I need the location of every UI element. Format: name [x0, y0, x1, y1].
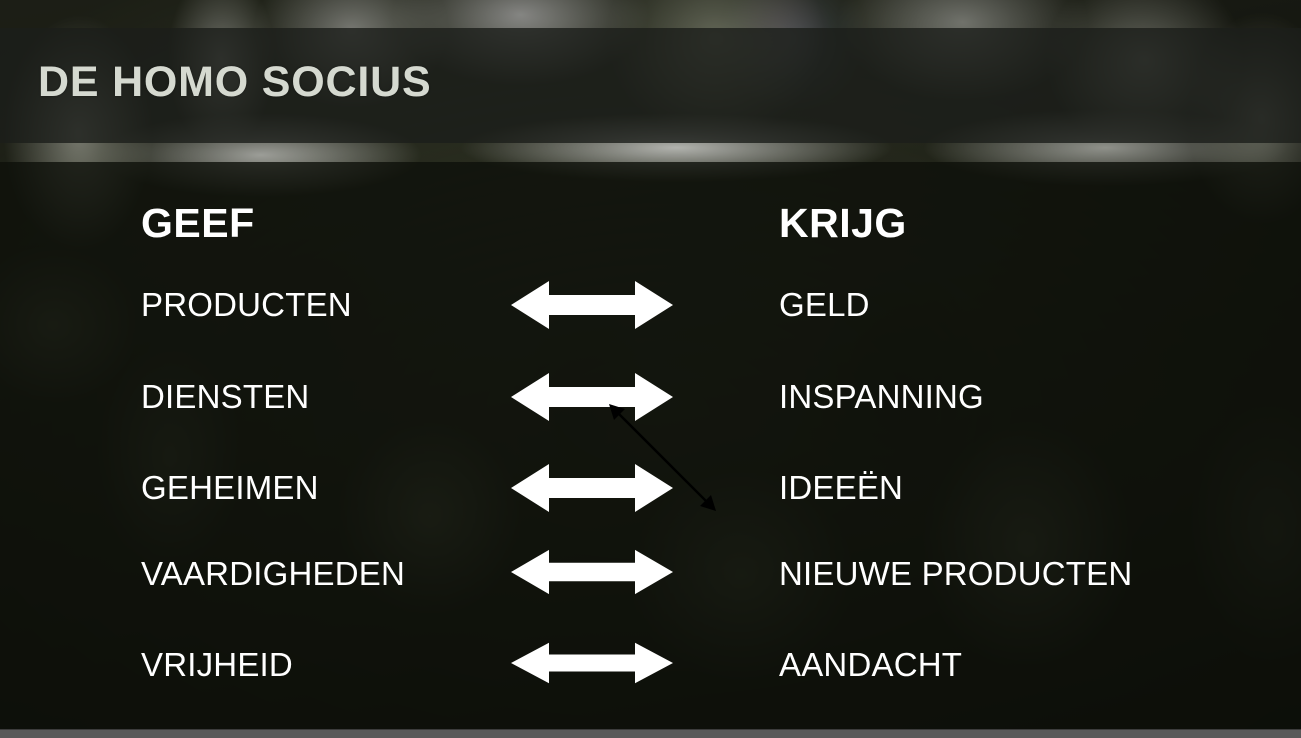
double-arrow-icon-5: [511, 641, 673, 685]
presentation-slide: DE HOMO SOCIUS GEEF KRIJG PRODUCTEN GELD…: [0, 0, 1301, 738]
give-item-1: PRODUCTEN: [141, 286, 352, 324]
get-item-5: AANDACHT: [779, 646, 962, 684]
get-item-1: GELD: [779, 286, 870, 324]
double-arrow-icon-1: [511, 279, 673, 331]
give-item-4: VAARDIGHEDEN: [141, 555, 405, 593]
bottom-chrome-bar: [0, 729, 1301, 738]
column-heading-get: KRIJG: [779, 200, 907, 247]
get-item-3: IDEEËN: [779, 469, 903, 507]
get-item-2: INSPANNING: [779, 378, 984, 416]
double-arrow-icon-4: [511, 548, 673, 596]
get-item-4: NIEUWE PRODUCTEN: [779, 555, 1132, 593]
give-item-2: DIENSTEN: [141, 378, 309, 416]
column-heading-give: GEEF: [141, 200, 255, 247]
slide-title: DE HOMO SOCIUS: [38, 58, 431, 107]
give-item-3: GEHEIMEN: [141, 469, 319, 507]
double-arrow-icon-2: [511, 371, 673, 423]
double-arrow-icon-3: [511, 462, 673, 514]
give-item-5: VRIJHEID: [141, 646, 293, 684]
